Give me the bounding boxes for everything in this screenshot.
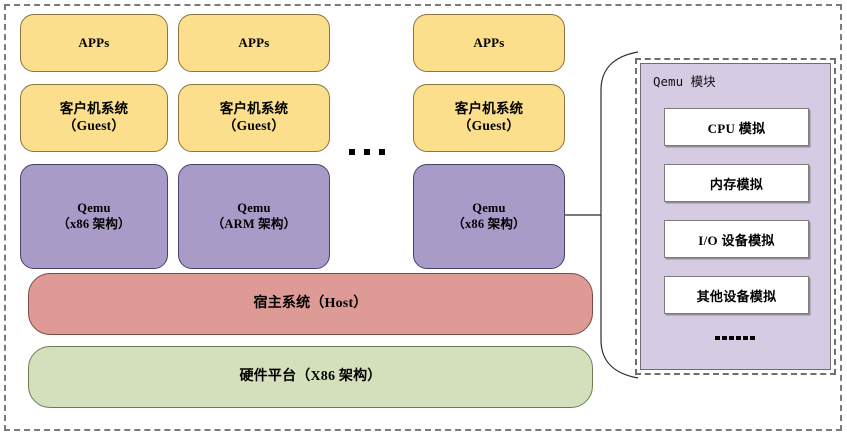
ellipsis-dot xyxy=(750,336,755,340)
hardware-layer-box: 硬件平台（X86 架构） xyxy=(28,346,593,408)
vm-1-apps-box: APPs xyxy=(20,14,168,72)
vm-3-qemu-box: Qemu （x86 架构） xyxy=(413,164,565,269)
diagram-canvas: APPs 客户机系统 （Guest） Qemu （x86 架构） APPs 客户… xyxy=(0,0,847,436)
ellipsis-dot xyxy=(715,336,720,340)
ellipsis-dot xyxy=(364,149,370,155)
vm-1-qemu-box: Qemu （x86 架构） xyxy=(20,164,168,269)
vm-1-guest-box: 客户机系统 （Guest） xyxy=(20,84,168,152)
vm-2-apps-box: APPs xyxy=(178,14,330,72)
qemu-module-panel-title: Qemu 模块 xyxy=(653,71,716,90)
qemu-module-connector xyxy=(560,50,650,380)
ellipsis-dot xyxy=(722,336,727,340)
ellipsis-dot xyxy=(743,336,748,340)
ellipsis-dot xyxy=(729,336,734,340)
ellipsis-dot xyxy=(736,336,741,340)
ellipsis-dot xyxy=(379,149,385,155)
vm-3-guest-box: 客户机系统 （Guest） xyxy=(413,84,565,152)
vm-3-apps-box: APPs xyxy=(413,14,565,72)
module-box-io-device: I/O 设备模拟 xyxy=(664,220,809,258)
host-layer-box: 宿主系统（Host） xyxy=(28,273,593,335)
vm-2-guest-box: 客户机系统 （Guest） xyxy=(178,84,330,152)
qemu-module-panel: Qemu 模块 CPU 模拟 内存模拟 I/O 设备模拟 其他设备模拟 xyxy=(640,63,831,370)
module-box-cpu: CPU 模拟 xyxy=(664,108,809,146)
module-panel-ellipsis xyxy=(715,336,755,340)
vm-columns-ellipsis xyxy=(349,149,385,155)
ellipsis-dot xyxy=(349,149,355,155)
module-box-other-device: 其他设备模拟 xyxy=(664,276,809,314)
module-box-memory: 内存模拟 xyxy=(664,164,809,202)
vm-2-qemu-box: Qemu （ARM 架构） xyxy=(178,164,330,269)
